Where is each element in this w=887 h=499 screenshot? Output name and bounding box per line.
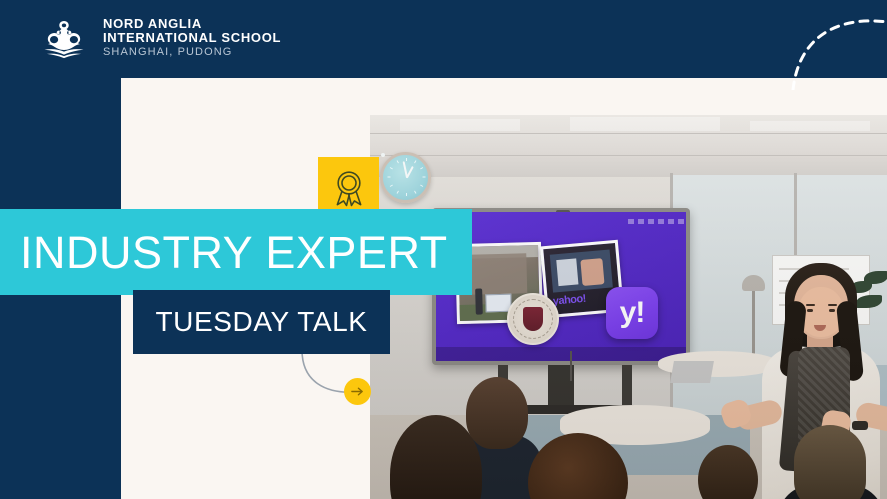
ceiling-panel bbox=[400, 119, 520, 131]
dashed-arc-decoration bbox=[777, 0, 887, 90]
ceiling-panel bbox=[570, 117, 720, 131]
speaker-brow bbox=[828, 304, 837, 306]
laptop bbox=[670, 361, 714, 383]
floor-lamp-head bbox=[742, 275, 765, 291]
arrow-right-icon bbox=[350, 384, 365, 399]
page-title: INDUSTRY EXPERT bbox=[0, 230, 448, 275]
slide-yahoo-wordmark: yahoo! bbox=[552, 293, 586, 308]
nord-anglia-crown-logo-icon bbox=[38, 16, 90, 60]
brand-logo-text: NORD ANGLIA INTERNATIONAL SCHOOL SHANGHA… bbox=[103, 17, 281, 60]
floor-lamp-pole bbox=[752, 285, 755, 355]
student-audience bbox=[466, 377, 528, 449]
screen-brand-label bbox=[628, 219, 688, 224]
speaker-brow bbox=[806, 304, 815, 306]
subtitle-box: TUESDAY TALK bbox=[133, 290, 390, 354]
speaker-eye bbox=[829, 309, 835, 312]
wall-clock bbox=[380, 152, 431, 203]
curved-line-decoration bbox=[300, 348, 390, 408]
screen-bezel-bottom bbox=[436, 347, 686, 361]
brand-line-2: INTERNATIONAL SCHOOL bbox=[103, 31, 281, 46]
award-ribbon-icon bbox=[329, 168, 369, 208]
hanging-cable bbox=[570, 351, 572, 381]
poster-canvas: yahoo! y! bbox=[0, 0, 887, 499]
brand-line-1: NORD ANGLIA bbox=[103, 17, 281, 32]
page-subtitle: TUESDAY TALK bbox=[155, 308, 367, 336]
ceiling-line bbox=[370, 133, 887, 134]
student-audience bbox=[794, 425, 866, 499]
headline-banner: INDUSTRY EXPERT bbox=[0, 209, 472, 295]
yahoo-logo-text: y! bbox=[606, 287, 658, 339]
arrow-dot-badge[interactable] bbox=[344, 378, 371, 405]
university-seal-icon bbox=[507, 293, 559, 345]
yahoo-logo-tile: y! bbox=[606, 287, 658, 339]
ceiling-line bbox=[370, 155, 887, 156]
speaker-eye bbox=[807, 309, 813, 312]
ceiling-panel bbox=[750, 121, 870, 131]
classroom-presentation-photo: yahoo! y! bbox=[370, 115, 887, 499]
brand-line-3: SHANGHAI, PUDONG bbox=[103, 46, 281, 60]
speaker-wristwatch bbox=[852, 421, 868, 430]
brand-logo[interactable]: NORD ANGLIA INTERNATIONAL SCHOOL SHANGHA… bbox=[38, 16, 281, 60]
